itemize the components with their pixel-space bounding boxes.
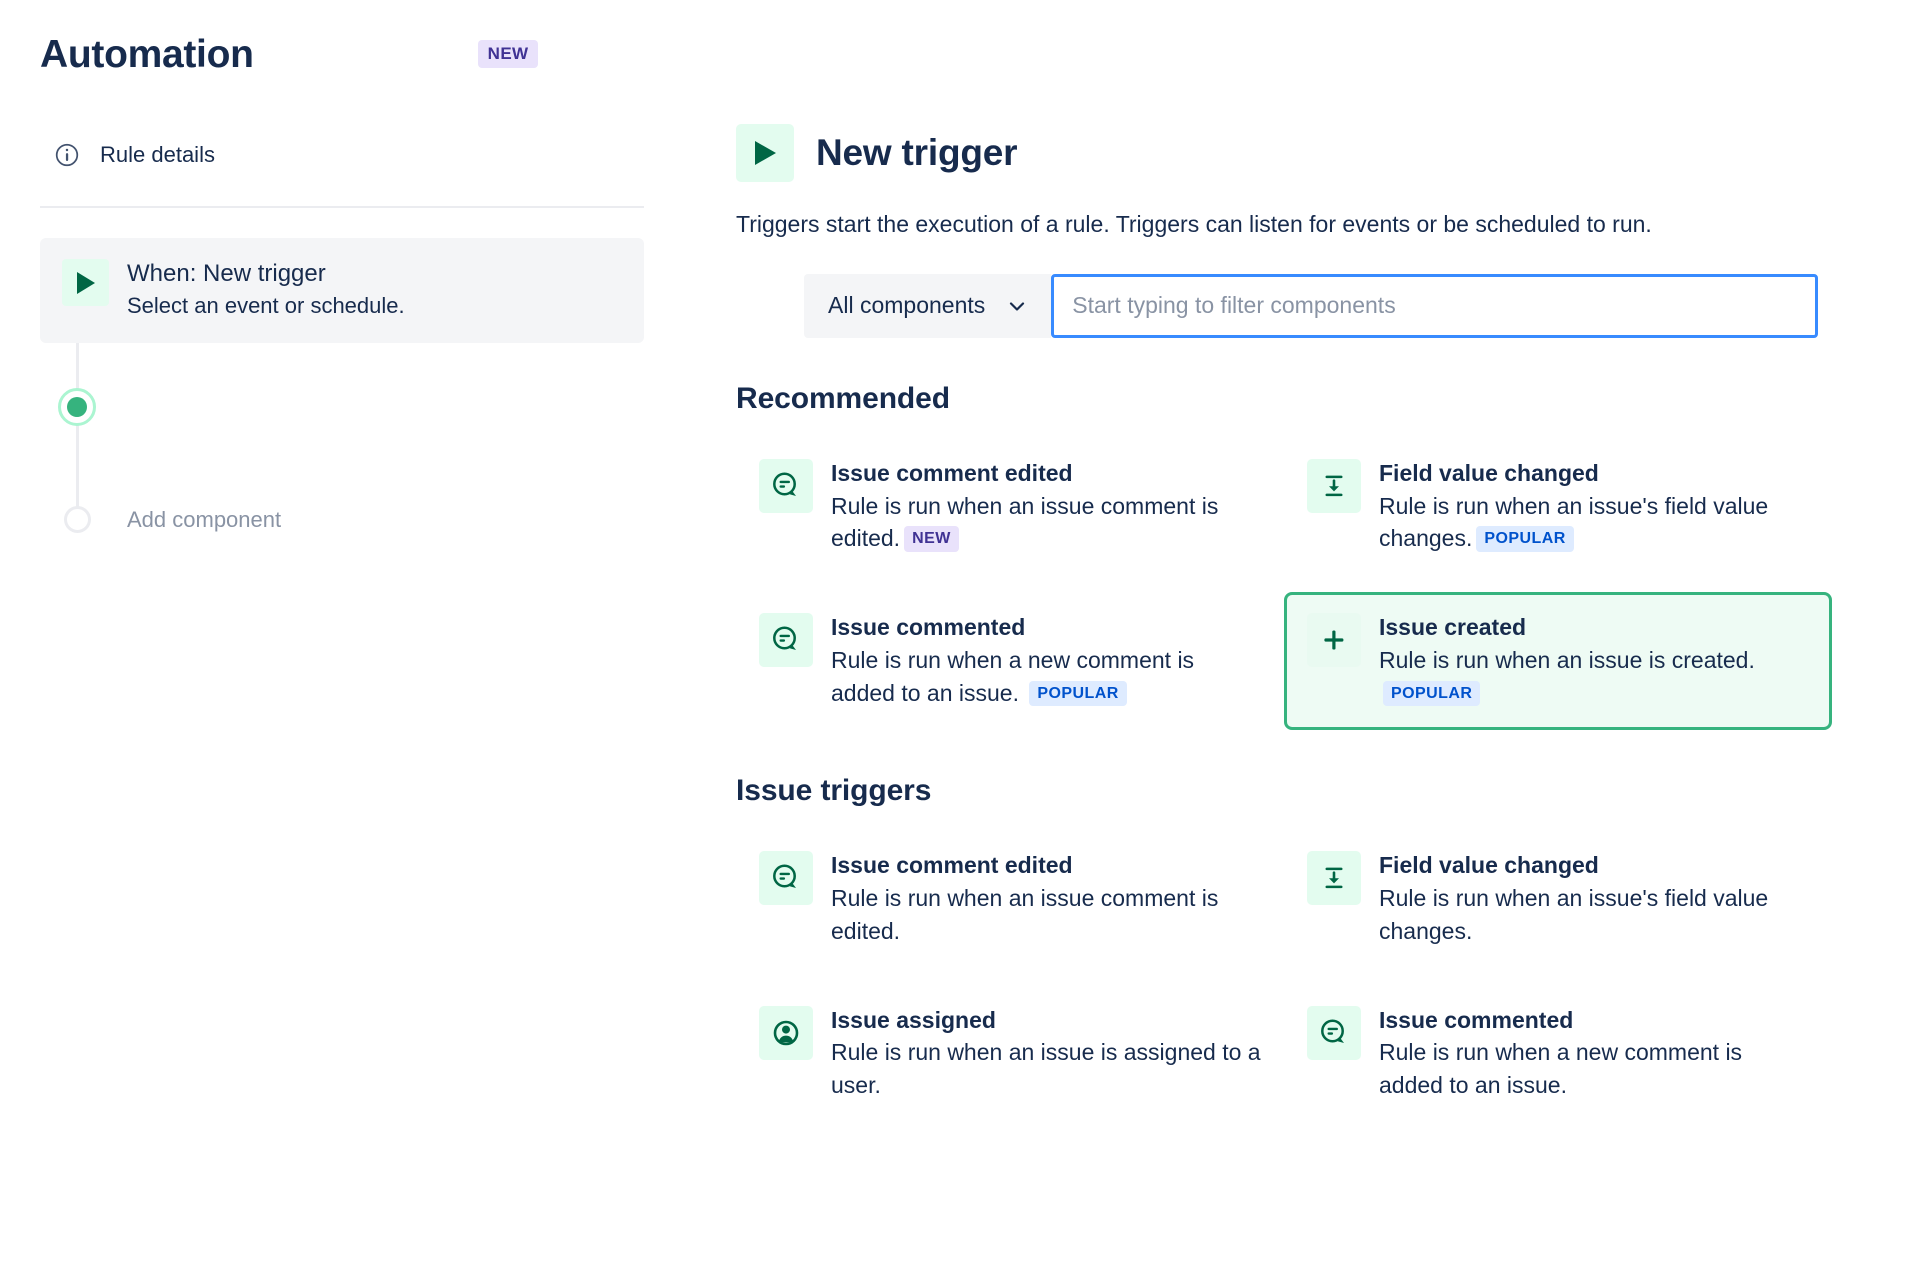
trigger-card-desc: Rule is run when a new comment is added …	[831, 644, 1261, 709]
section-heading-recommended: Recommended	[736, 382, 1878, 416]
trigger-card-desc: Rule is run when an issue comment is edi…	[831, 490, 1261, 555]
add-component-label: Add component	[127, 507, 281, 533]
trigger-card-badge: POPULAR	[1383, 681, 1480, 706]
timeline-node-active[interactable]	[58, 388, 96, 426]
trigger-card-title: Issue commented	[831, 613, 1261, 643]
trigger-step-texts: When: New trigger Select an event or sch…	[127, 258, 405, 321]
trigger-card-badge: NEW	[904, 526, 959, 551]
trigger-panel-title: New trigger	[816, 132, 1017, 174]
comment-icon	[1307, 1006, 1361, 1060]
trigger-card-title: Field value changed	[1379, 851, 1809, 881]
trigger-card-desc: Rule is run when a new comment is added …	[1379, 1036, 1809, 1101]
comment-icon	[759, 851, 813, 905]
comment-icon	[759, 459, 813, 513]
component-type-select-value: All components	[828, 292, 985, 319]
page-title: Automation	[40, 35, 254, 74]
trigger-card-desc: Rule is run when an issue's field value …	[1379, 882, 1809, 947]
trigger-card-body: Issue commented Rule is run when a new c…	[1379, 1006, 1809, 1102]
info-icon	[54, 142, 80, 168]
component-filter-input-wrap[interactable]	[1051, 274, 1818, 338]
trigger-picker-panel: New trigger Triggers start the execution…	[736, 0, 1918, 1276]
trigger-card-desc: Rule is run when an issue comment is edi…	[831, 882, 1261, 947]
trigger-card-title: Field value changed	[1379, 459, 1809, 489]
trigger-card-desc: Rule is run when an issue's field value …	[1379, 490, 1809, 555]
field-value-changed-icon	[1307, 459, 1361, 513]
trigger-card-body: Issue comment edited Rule is run when an…	[831, 459, 1261, 555]
chevron-down-icon	[1005, 294, 1029, 318]
recommended-card-grid: Issue comment edited Rule is run when an…	[736, 438, 1878, 730]
trigger-panel-header: New trigger	[736, 124, 1878, 182]
trigger-card-issue-comment-edited-2[interactable]: Issue comment edited Rule is run when an…	[736, 830, 1284, 968]
trigger-card-desc: Rule is run when an issue is assigned to…	[831, 1036, 1261, 1101]
trigger-card-body: Issue assigned Rule is run when an issue…	[831, 1006, 1261, 1102]
trigger-card-body: Issue commented Rule is run when a new c…	[831, 613, 1261, 709]
rule-timeline: When: New trigger Select an event or sch…	[40, 238, 644, 343]
sidebar-header: Automation NEW	[40, 26, 660, 82]
trigger-card-badge: POPULAR	[1029, 681, 1126, 706]
trigger-card-issue-commented[interactable]: Issue commented Rule is run when a new c…	[736, 592, 1284, 730]
trigger-step-subtitle: Select an event or schedule.	[127, 292, 405, 321]
trigger-card-title: Issue created	[1379, 613, 1809, 643]
trigger-panel-description: Triggers start the execution of a rule. …	[736, 210, 1878, 240]
trigger-card-desc-text: Rule is run when an issue comment is edi…	[831, 493, 1218, 552]
sidebar-item-rule-details[interactable]: Rule details	[40, 138, 660, 172]
trigger-card-desc: Rule is run when an issue is created.POP…	[1379, 644, 1809, 709]
component-filter-input[interactable]	[1072, 292, 1797, 319]
trigger-card-field-value-changed[interactable]: Field value changed Rule is run when an …	[1284, 438, 1832, 576]
trigger-step-title: When: New trigger	[127, 259, 405, 288]
trigger-card-title: Issue assigned	[831, 1006, 1261, 1036]
trigger-card-title: Issue comment edited	[831, 851, 1261, 881]
trigger-card-badge: POPULAR	[1476, 526, 1573, 551]
timeline-node-dot	[67, 397, 87, 417]
trigger-card-body: Issue created Rule is run when an issue …	[1379, 613, 1809, 709]
rule-details-label: Rule details	[100, 142, 215, 168]
component-filter-bar: All components	[804, 274, 1818, 338]
trigger-step-card[interactable]: When: New trigger Select an event or sch…	[40, 238, 644, 343]
trigger-card-desc-text: Rule is run when an issue is created.	[1379, 647, 1755, 673]
trigger-card-title: Issue comment edited	[831, 459, 1261, 489]
page-title-new-badge: NEW	[478, 40, 538, 68]
sidebar-divider	[40, 206, 644, 208]
component-type-select[interactable]: All components	[804, 274, 1051, 338]
section-recommended: Recommended Issue comment edited Rule i	[736, 382, 1878, 730]
comment-icon	[759, 613, 813, 667]
trigger-card-body: Field value changed Rule is run when an …	[1379, 459, 1809, 555]
section-heading-issue-triggers: Issue triggers	[736, 774, 1878, 808]
trigger-card-desc-text: Rule is run when a new comment is added …	[831, 647, 1194, 706]
issue-triggers-card-grid: Issue comment edited Rule is run when an…	[736, 830, 1878, 1122]
timeline-node-empty-icon	[64, 506, 91, 533]
trigger-card-issue-comment-edited[interactable]: Issue comment edited Rule is run when an…	[736, 438, 1284, 576]
trigger-card-issue-created[interactable]: Issue created Rule is run when an issue …	[1284, 592, 1832, 730]
trigger-card-title: Issue commented	[1379, 1006, 1809, 1036]
person-circle-icon	[759, 1006, 813, 1060]
trigger-card-body: Field value changed Rule is run when an …	[1379, 851, 1809, 947]
trigger-card-issue-assigned[interactable]: Issue assigned Rule is run when an issue…	[736, 985, 1284, 1123]
add-component-button[interactable]: Add component	[40, 506, 281, 533]
trigger-card-body: Issue comment edited Rule is run when an…	[831, 851, 1261, 947]
field-value-changed-icon	[1307, 851, 1361, 905]
plus-icon	[1307, 613, 1361, 667]
play-icon	[62, 259, 109, 306]
trigger-card-field-value-changed-2[interactable]: Field value changed Rule is run when an …	[1284, 830, 1832, 968]
rule-builder-sidebar: Automation NEW Rule details	[0, 0, 700, 1276]
automation-trigger-page: Automation NEW Rule details	[0, 0, 1918, 1276]
play-icon	[736, 124, 794, 182]
trigger-card-issue-commented-2[interactable]: Issue commented Rule is run when a new c…	[1284, 985, 1832, 1123]
section-issue-triggers: Issue triggers Issue comment edited Rul	[736, 774, 1878, 1122]
